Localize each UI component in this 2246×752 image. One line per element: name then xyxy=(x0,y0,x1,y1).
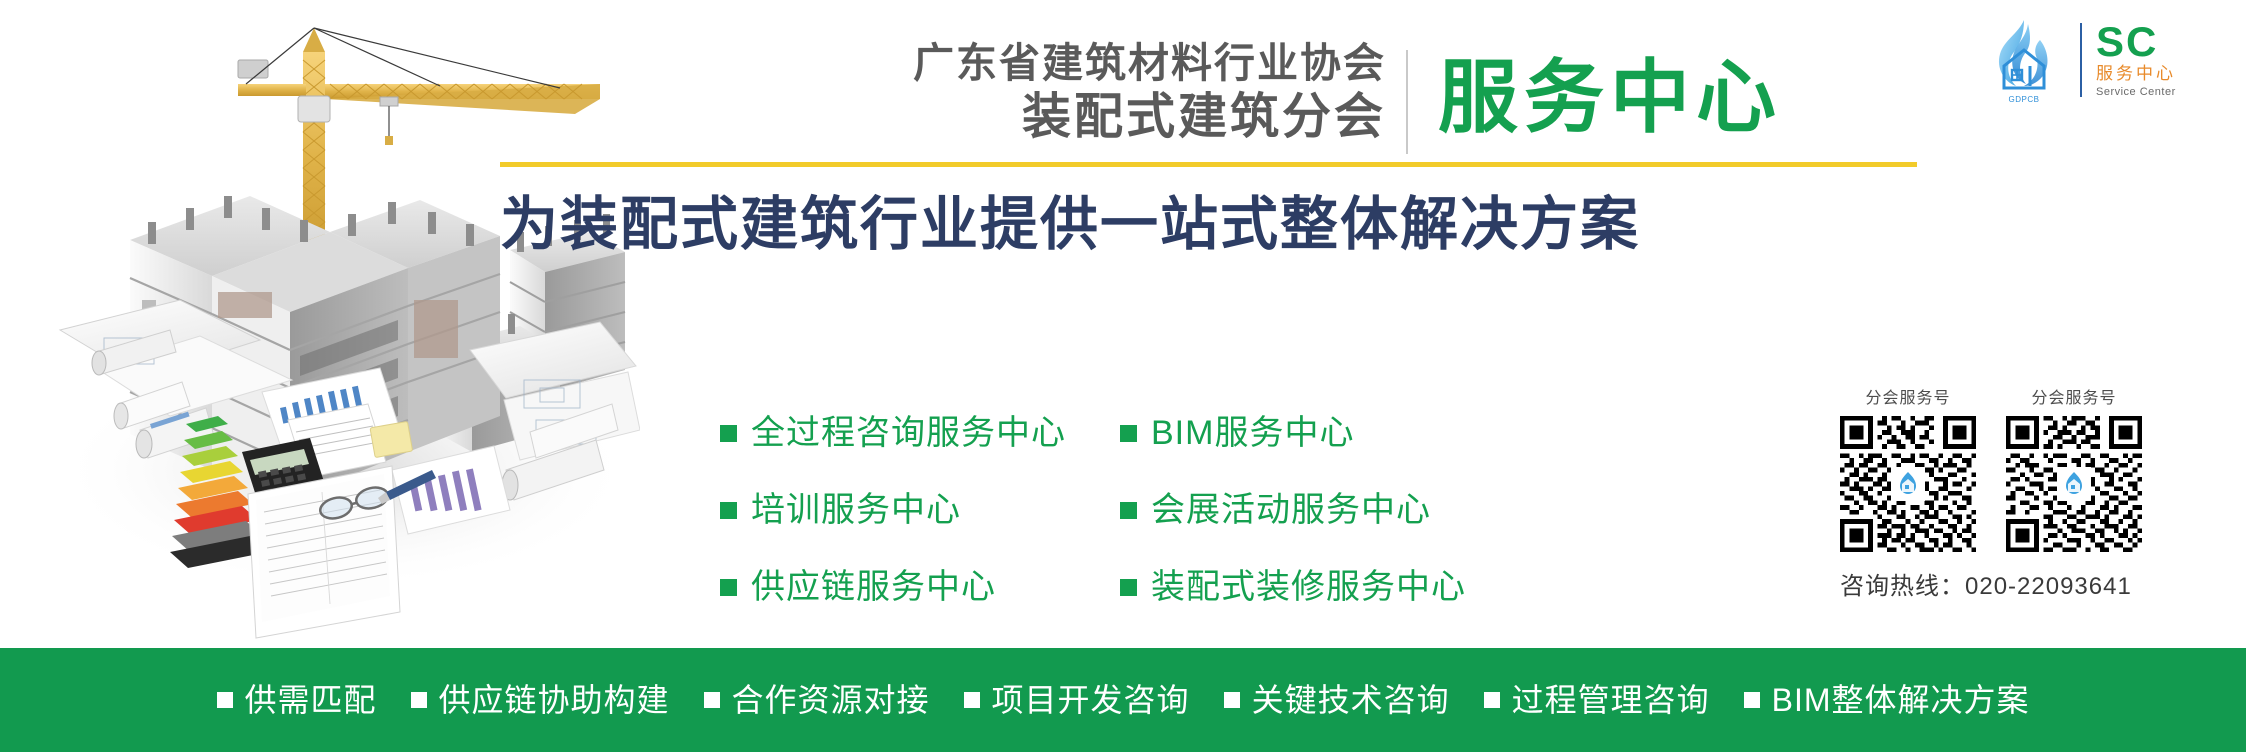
association-name-line1: 广东省建筑材料行业协会 xyxy=(586,38,1386,88)
service-center-title: 服务中心 xyxy=(1438,46,1782,150)
service-item-label: 会展活动服务中心 xyxy=(1151,489,1431,531)
bottom-service-bar: 供需匹配 供应链协助构建 合作资源对接 项目开发咨询 关键技术咨询 过程管理咨询… xyxy=(0,648,2246,752)
yellow-divider-rule xyxy=(500,162,1917,167)
service-item-training[interactable]: 培训服务中心 xyxy=(720,485,1066,535)
banner-root: 广东省建筑材料行业协会 装配式建筑分会 服务中心 为装配式建筑行业提供一站式整体… xyxy=(0,0,2246,752)
square-bullet-icon xyxy=(720,425,737,442)
bar-item-label: 关键技术咨询 xyxy=(1252,680,1450,720)
association-names: 广东省建筑材料行业协会 装配式建筑分会 xyxy=(586,38,1386,146)
qr-code-image-1[interactable] xyxy=(1840,416,1976,552)
qr-contact-block: 分会服务号 xyxy=(1840,384,2220,601)
construction-scene-svg xyxy=(0,0,640,648)
gdpcb-mini-logo-icon xyxy=(2060,470,2088,498)
square-bullet-icon xyxy=(964,692,980,708)
service-item-label: 全过程咨询服务中心 xyxy=(751,412,1066,454)
service-list-left-column: 全过程咨询服务中心 培训服务中心 供应链服务中心 xyxy=(720,408,1066,639)
service-item-label: 装配式装修服务中心 xyxy=(1151,566,1466,608)
square-bullet-icon xyxy=(1484,692,1500,708)
brand-text-block: SC 服务中心 Service Center xyxy=(2096,21,2234,99)
service-item-supply-chain[interactable]: 供应链服务中心 xyxy=(720,562,1066,612)
bar-item-partner-resource-matching[interactable]: 合作资源对接 xyxy=(704,680,930,720)
bar-item-supply-demand-matching[interactable]: 供需匹配 xyxy=(217,680,377,720)
bar-item-process-management-consulting[interactable]: 过程管理咨询 xyxy=(1484,680,1710,720)
bar-item-label: 供需匹配 xyxy=(245,680,377,720)
square-bullet-icon xyxy=(720,502,737,519)
service-item-exhibition[interactable]: 会展活动服务中心 xyxy=(1120,485,1466,535)
logo-vertical-separator xyxy=(2080,23,2082,97)
bar-item-bim-total-solution[interactable]: BIM整体解决方案 xyxy=(1744,680,2030,720)
qr-center-logo-icon xyxy=(2057,467,2091,501)
service-item-full-process-consulting[interactable]: 全过程咨询服务中心 xyxy=(720,408,1066,458)
square-bullet-icon xyxy=(704,692,720,708)
bar-item-key-technology-consulting[interactable]: 关键技术咨询 xyxy=(1224,680,1450,720)
service-list-right-column: BIM服务中心 会展活动服务中心 装配式装修服务中心 xyxy=(1120,408,1466,639)
bar-item-supply-chain-construction[interactable]: 供应链协助构建 xyxy=(411,680,670,720)
qr-caption: 分会服务号 xyxy=(2006,384,2142,408)
header-title-block: 广东省建筑材料行业协会 装配式建筑分会 服务中心 xyxy=(586,38,1916,158)
qr-code-image-2[interactable] xyxy=(2006,416,2142,552)
service-item-prefab-decoration[interactable]: 装配式装修服务中心 xyxy=(1120,562,1466,612)
qr-caption: 分会服务号 xyxy=(1840,384,1976,408)
gdpcb-flame-house-logo-icon: GDPCB xyxy=(1982,16,2066,104)
qr-cell-1: 分会服务号 xyxy=(1840,384,1976,552)
bar-item-project-development-consulting[interactable]: 项目开发咨询 xyxy=(964,680,1190,720)
square-bullet-icon xyxy=(1120,502,1137,519)
construction-illustration xyxy=(0,0,640,648)
qr-center-logo-icon xyxy=(1891,467,1925,501)
qr-code-row: 分会服务号 xyxy=(1840,384,2220,552)
brand-name-en: Service Center xyxy=(2096,85,2234,99)
gdpcb-mini-logo-icon xyxy=(1894,470,1922,498)
square-bullet-icon xyxy=(1224,692,1240,708)
square-bullet-icon xyxy=(217,692,233,708)
hotline-text: 咨询热线：020-22093641 xyxy=(1840,566,2220,601)
brand-logo[interactable]: GDPCB SC 服务中心 Service Center xyxy=(1982,14,2234,106)
bar-item-label: 项目开发咨询 xyxy=(992,680,1190,720)
brand-initials: SC xyxy=(2096,21,2234,63)
qr-cell-2: 分会服务号 xyxy=(2006,384,2142,552)
square-bullet-icon xyxy=(1120,579,1137,596)
bar-item-label: 过程管理咨询 xyxy=(1512,680,1710,720)
square-bullet-icon xyxy=(720,579,737,596)
square-bullet-icon xyxy=(1120,425,1137,442)
square-bullet-icon xyxy=(1744,692,1760,708)
service-item-label: 供应链服务中心 xyxy=(751,566,996,608)
association-name-line2: 装配式建筑分会 xyxy=(586,88,1386,146)
flame-house-icon xyxy=(1982,16,2066,96)
service-item-label: BIM服务中心 xyxy=(1151,412,1354,454)
brand-name-cn: 服务中心 xyxy=(2096,63,2234,85)
service-item-label: 培训服务中心 xyxy=(751,489,961,531)
bar-item-label: 合作资源对接 xyxy=(732,680,930,720)
bar-item-label: BIM整体解决方案 xyxy=(1772,680,2030,720)
square-bullet-icon xyxy=(411,692,427,708)
gdpcb-abbrev-label: GDPCB xyxy=(1982,95,2066,104)
service-item-bim[interactable]: BIM服务中心 xyxy=(1120,408,1466,458)
bar-item-label: 供应链协助构建 xyxy=(439,680,670,720)
banner-subtitle: 为装配式建筑行业提供一站式整体解决方案 xyxy=(500,186,1920,264)
title-vertical-divider xyxy=(1406,50,1408,154)
